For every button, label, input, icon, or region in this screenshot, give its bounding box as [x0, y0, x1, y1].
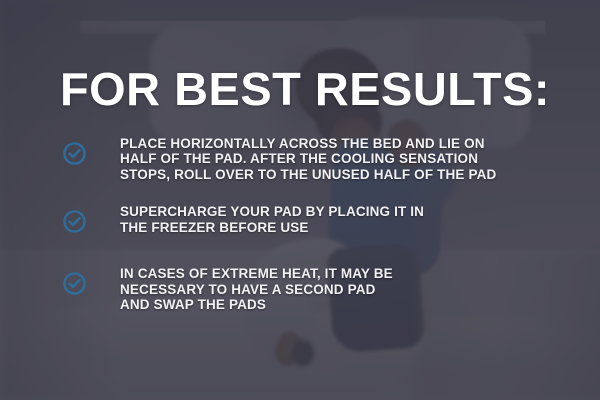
bullet-text: SUPERCHARGE YOUR PAD BY PLACING IT IN TH…	[0, 204, 600, 235]
bullet-text: PLACE HORIZONTALLY ACROSS THE BED AND LI…	[0, 136, 600, 182]
bullet-item: SUPERCHARGE YOUR PAD BY PLACING IT IN TH…	[0, 204, 600, 244]
bullet-line: STOPS, ROLL OVER TO THE UNUSED HALF OF T…	[120, 167, 600, 182]
slide-title: FOR BEST RESULTS:	[60, 66, 550, 112]
check-circle-icon	[63, 272, 86, 295]
bullet-line: SUPERCHARGE YOUR PAD BY PLACING IT IN	[120, 204, 600, 219]
bullet-line: THE FREEZER BEFORE USE	[120, 220, 600, 235]
bullet-item: IN CASES OF EXTREME HEAT, IT MAY BE NECE…	[0, 266, 600, 312]
bullet-list: PLACE HORIZONTALLY ACROSS THE BED AND LI…	[0, 136, 600, 334]
check-circle-icon	[63, 210, 86, 233]
bullet-item: PLACE HORIZONTALLY ACROSS THE BED AND LI…	[0, 136, 600, 182]
check-circle-icon	[63, 142, 86, 165]
bullet-line: HALF OF THE PAD. AFTER THE COOLING SENSA…	[120, 151, 600, 166]
bullet-line: AND SWAP THE PADS	[120, 297, 600, 312]
bullet-line: PLACE HORIZONTALLY ACROSS THE BED AND LI…	[120, 136, 600, 151]
bullet-line: IN CASES OF EXTREME HEAT, IT MAY BE	[120, 266, 600, 281]
bullet-line: NECESSARY TO HAVE A SECOND PAD	[120, 282, 600, 297]
slide-frame: FOR BEST RESULTS: PLACE HORIZONTALLY ACR…	[0, 0, 600, 400]
bullet-text: IN CASES OF EXTREME HEAT, IT MAY BE NECE…	[0, 266, 600, 312]
slide-content: FOR BEST RESULTS: PLACE HORIZONTALLY ACR…	[0, 0, 600, 400]
